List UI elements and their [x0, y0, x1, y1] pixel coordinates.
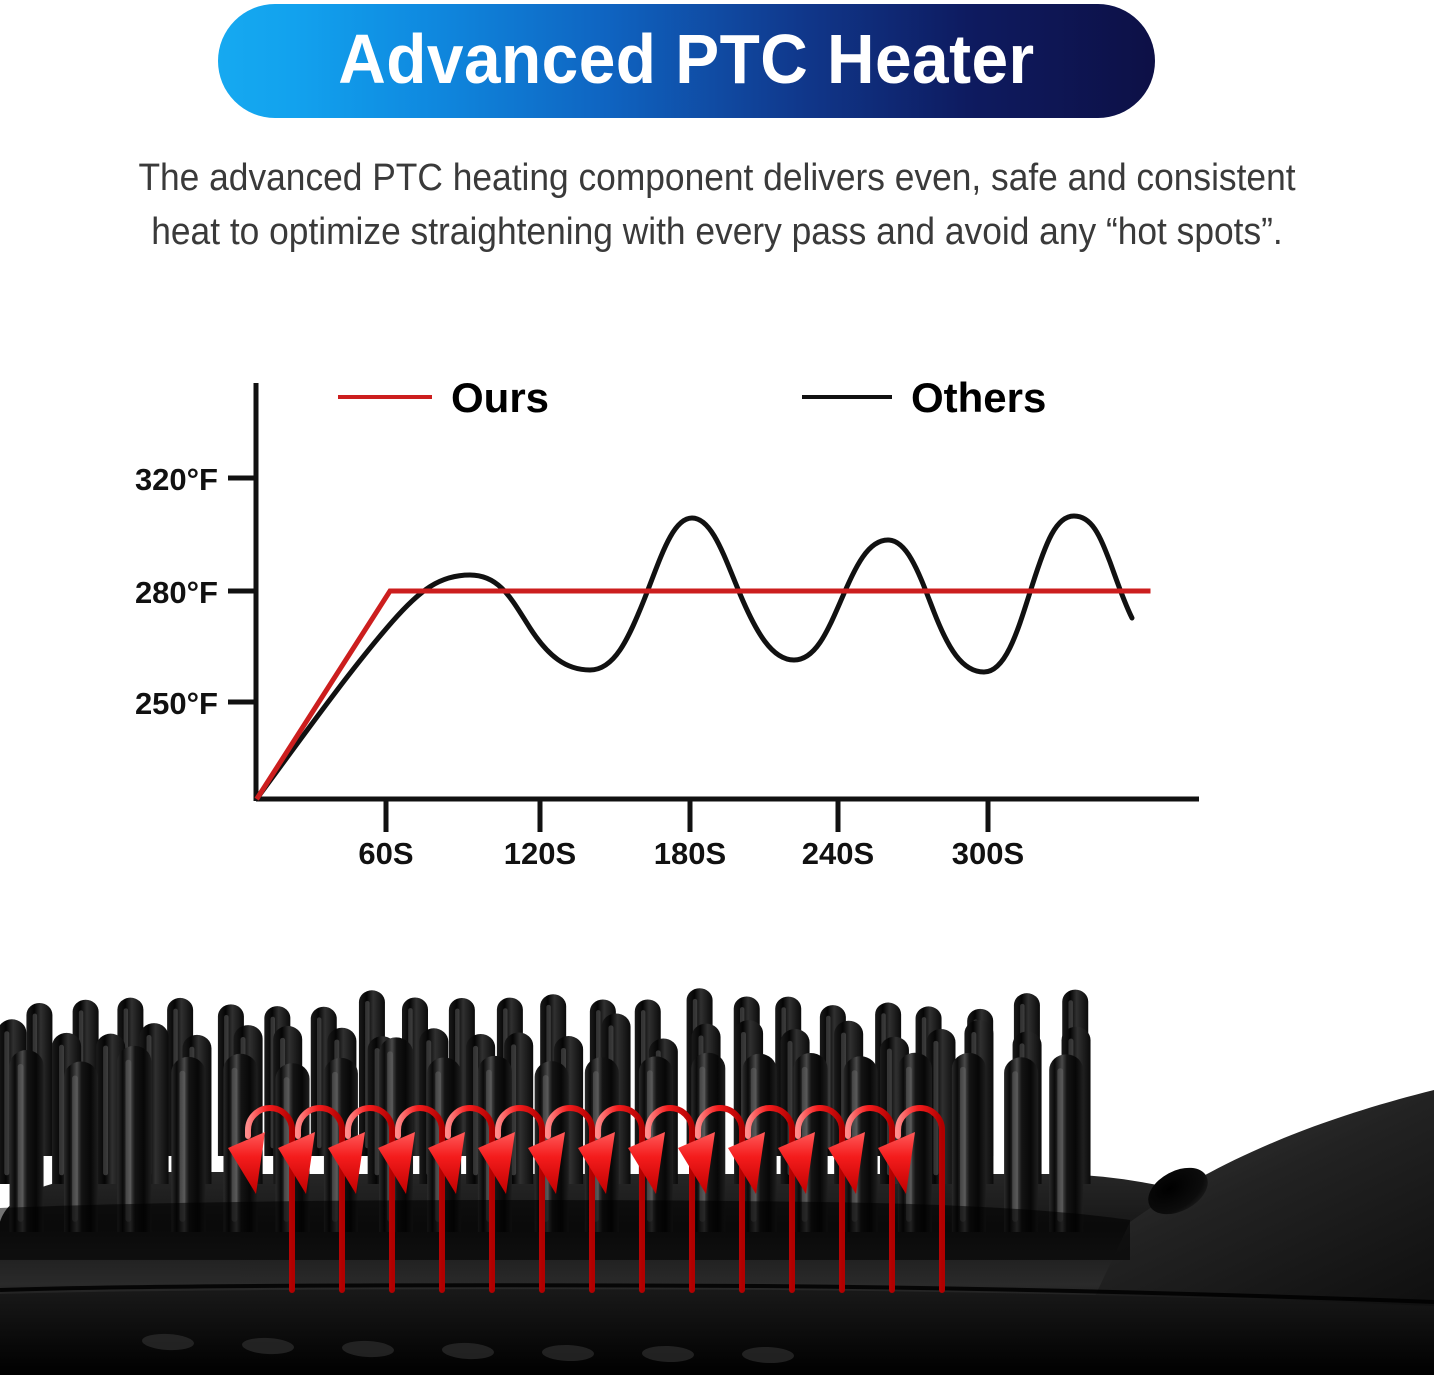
x-axis-label-180s: 180S: [654, 836, 726, 871]
bristle-highlight: [933, 1041, 938, 1175]
bristle-highlight: [1012, 1071, 1018, 1222]
bristle-highlight: [180, 1071, 186, 1222]
bristle-highlight: [4, 1031, 9, 1175]
bristle-highlight: [960, 1067, 966, 1222]
bristle-pin: [10, 1050, 44, 1232]
legend-label-others: Others: [911, 374, 1046, 421]
x-axis-label-240s: 240S: [802, 836, 874, 871]
x-axis-label-60s: 60S: [358, 836, 413, 871]
chart-axes: [228, 383, 1199, 832]
y-axis-label-320: 320°F: [135, 462, 218, 497]
subtitle-line-2: heat to optimize straightening with ever…: [50, 206, 1384, 260]
bristle-highlight: [59, 1045, 64, 1176]
y-axis-label-250: 250°F: [135, 686, 218, 721]
subtitle-description: The advanced PTC heating component deliv…: [50, 152, 1384, 260]
x-axis-label-300s: 300S: [952, 836, 1024, 871]
chart-legend: Ours Others: [338, 374, 1046, 421]
brush-lower-shell: [0, 1289, 1434, 1375]
bristle-pin: [1049, 1054, 1083, 1232]
product-illustration: [0, 960, 1434, 1375]
legend-label-ours: Ours: [451, 374, 549, 421]
y-axis-label-280: 280°F: [135, 575, 218, 610]
bristle-highlight: [103, 1046, 108, 1176]
bristle-highlight: [72, 1075, 78, 1221]
bristle-pins: [0, 988, 1130, 1260]
bristle-pin: [952, 1053, 986, 1232]
bristle-highlight: [18, 1064, 24, 1222]
bristle-pin: [1004, 1057, 1038, 1232]
title-banner: Advanced PTC Heater: [218, 4, 1155, 118]
bristle-highlight: [317, 1017, 321, 1148]
chart-svg: Ours Others 320°F 280°F: [0, 340, 1434, 900]
bristle-highlight: [1057, 1068, 1063, 1222]
bristle-root-shadow: [0, 1200, 1130, 1260]
x-axis-label-120s: 120S: [504, 836, 576, 871]
bristle-highlight: [126, 1060, 132, 1222]
subtitle-line-1: The advanced PTC heating component deliv…: [50, 152, 1384, 206]
series-line-others: [258, 516, 1132, 797]
product-image-straightener-brush: [0, 960, 1434, 1375]
temperature-comparison-chart: Ours Others 320°F 280°F: [0, 340, 1434, 900]
page-title: Advanced PTC Heater: [338, 24, 1034, 98]
infographic-page: Advanced PTC Heater The advanced PTC hea…: [0, 0, 1434, 1375]
